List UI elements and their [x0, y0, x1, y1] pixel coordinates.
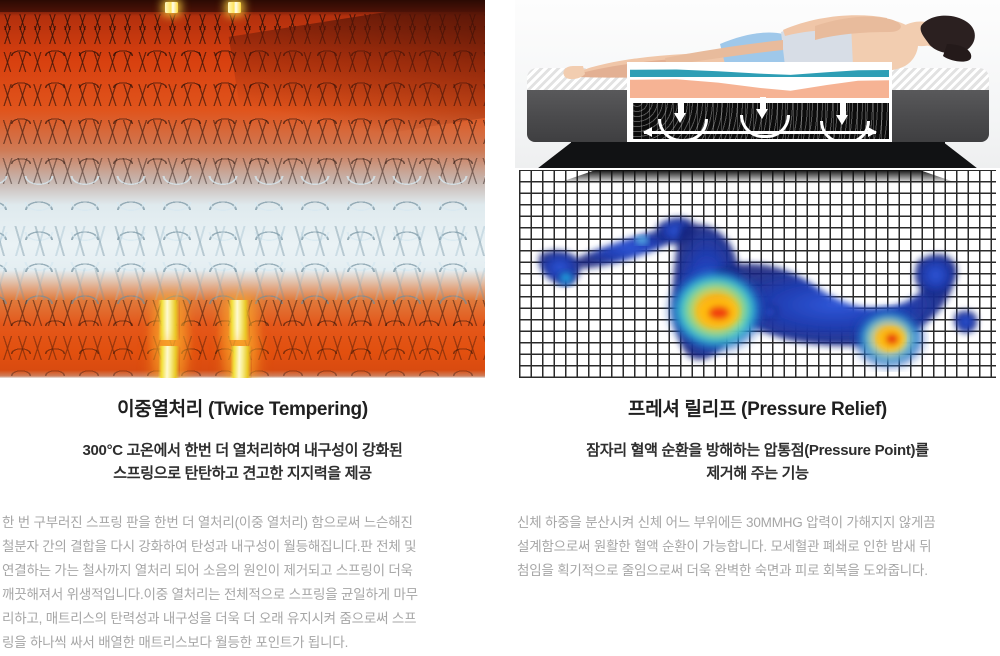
mattress-cutaway-scene — [515, 0, 1000, 168]
feature-subtitle-line: 잠자리 혈액 순환을 방해하는 압통점(Pressure Point)를 — [515, 439, 1000, 462]
furnace-top-rail — [0, 0, 485, 12]
tempering-furnace-coil-springs-photo — [0, 0, 485, 378]
pressure-relief-mattress-and-heatmap-diagram — [515, 0, 1000, 378]
pressure-heatmap-overlay — [519, 170, 996, 378]
feature-columns: 이중열처리 (Twice Tempering) 300°C 고온에서 한번 더 … — [0, 0, 1000, 655]
feature-body-line: 첨임을 획기적으로 줄임으로써 더욱 완벽한 숙면과 피로 회복을 도와줍니다. — [517, 559, 998, 583]
spring-row — [0, 226, 485, 256]
feature-body-line: 연결하는 가는 철사까지 열처리 되어 소음의 원인이 제거되고 스프링이 더욱 — [2, 559, 483, 583]
product-feature-page: 이중열처리 (Twice Tempering) 300°C 고온에서 한번 더 … — [0, 0, 1000, 656]
feature-body-line: 신체 하중을 분산시켜 신체 어느 부위에든 30MMHG 압력이 가해지지 않… — [517, 511, 998, 535]
furnace-lamp-icon — [228, 2, 241, 13]
glowing-tool-strip — [228, 300, 250, 340]
cooling-top-layer — [630, 65, 889, 77]
feature-body-twice-tempering: 한 번 구부러진 스프링 판을 한번 더 열처리(이중 열처리) 함으로써 느슨… — [0, 511, 485, 655]
comfort-foam-layer — [630, 74, 889, 98]
glowing-tool-strip — [230, 346, 253, 378]
feature-body-pressure-relief: 신체 하중을 분산시켜 신체 어느 부위에든 30MMHG 압력이 가해지지 않… — [515, 511, 1000, 583]
furnace-lamp-icon — [165, 2, 178, 13]
feature-body-line: 링을 하나씩 싸서 배열한 매트리스보다 월등한 포인트가 됩니다. — [2, 631, 483, 655]
glowing-tool-strip — [158, 346, 181, 378]
feature-body-line: 깨끗해져서 위생적입니다.이중 열처리는 전체적으로 스프링을 균일하게 마무 — [2, 583, 483, 607]
feature-body-line: 설계함으로써 원활한 혈액 순환이 가능합니다. 모세혈관 폐쇄로 인한 밤새 … — [517, 535, 998, 559]
caption-pressure-relief: 프레셔 릴리프 (Pressure Relief) 잠자리 혈액 순환을 방해하… — [515, 378, 1000, 485]
feature-subtitle-line: 스프링으로 탄탄하고 견고한 지지력을 제공 — [0, 462, 485, 485]
feature-subtitle: 300°C 고온에서 한번 더 열처리하여 내구성이 강화된 스프링으로 탄탄하… — [0, 439, 485, 486]
feature-subtitle-line: 300°C 고온에서 한번 더 열처리하여 내구성이 강화된 — [0, 439, 485, 462]
pressure-diagram-canvas — [515, 0, 1000, 378]
feature-title: 프레셔 릴리프 (Pressure Relief) — [515, 398, 1000, 423]
feature-subtitle: 잠자리 혈액 순환을 방해하는 압통점(Pressure Point)를 제거해… — [515, 439, 1000, 486]
feature-body-line: 철분자 간의 결합을 다시 강화하여 탄성과 내구성이 월등해집니다.판 전체 … — [2, 535, 483, 559]
bed-platform — [571, 138, 945, 168]
feature-column-pressure-relief: 프레셔 릴리프 (Pressure Relief) 잠자리 혈액 순환을 방해하… — [515, 0, 1000, 655]
caption-twice-tempering: 이중열처리 (Twice Tempering) 300°C 고온에서 한번 더 … — [0, 378, 485, 485]
feature-subtitle-line: 제거해 주는 기능 — [515, 462, 1000, 485]
feature-column-twice-tempering: 이중열처리 (Twice Tempering) 300°C 고온에서 한번 더 … — [0, 0, 485, 655]
feature-title: 이중열처리 (Twice Tempering) — [0, 398, 485, 423]
mattress-cutaway-window — [627, 62, 892, 142]
load-spread-double-arrow-icon — [644, 131, 876, 134]
feature-body-line: 한 번 구부러진 스프링 판을 한번 더 열처리(이중 열처리) 함으로써 느슨… — [2, 511, 483, 535]
glowing-tool-strip — [158, 300, 180, 340]
feature-body-line: 리하고, 매트리스의 탄력성과 내구성을 더욱 더 오래 유지시켜 줌으로써 스… — [2, 607, 483, 631]
